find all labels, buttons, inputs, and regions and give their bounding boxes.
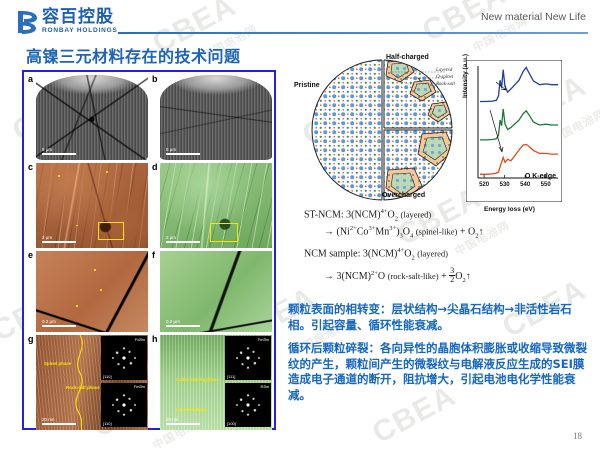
scale-label: 5 μm — [166, 147, 176, 152]
page-number: 18 — [573, 431, 582, 441]
sem-image-b — [160, 75, 272, 160]
figure-panel-e: e 0.2 μm — [26, 250, 148, 332]
panel-label-g: g — [28, 334, 34, 344]
scale-label: 0.2 μm — [42, 319, 56, 324]
panel-label-d: d — [152, 162, 158, 172]
spectrum-svg: 520530540550 — [466, 60, 562, 202]
marker-dot — [76, 305, 78, 307]
equation-4: → 3(NCM)2+O (rock-salt-like) + 32O2↑ — [304, 267, 594, 284]
scale-bar — [42, 325, 76, 327]
equation-3: NCM sample: 3(NCM)4+O2 (layered) — [304, 247, 594, 261]
phase-label-spinel: Spinel phase — [44, 361, 71, 366]
roi-box — [210, 223, 238, 242]
ronbay-logo-icon — [16, 9, 38, 35]
scale-bar — [166, 153, 200, 155]
scale-bar — [166, 423, 200, 425]
fft-inset-bottom: R3̄m [100] — [225, 383, 271, 427]
panel-label-h: h — [152, 334, 158, 344]
scale-label: 5 μm — [42, 147, 52, 152]
marker-dot — [94, 269, 96, 271]
panel-label-f: f — [152, 250, 155, 260]
marker-dot — [100, 289, 102, 291]
equation-2: → (Ni2+Co3+Mn3+)3O4 (spinel-like) + O2↑ — [304, 225, 594, 239]
marker-dot — [76, 225, 78, 227]
header-divider — [118, 32, 588, 34]
phase-boundary-curve — [36, 335, 148, 430]
x-tick-label: 550 — [541, 182, 552, 188]
scale-label: 20 nm — [166, 417, 179, 422]
spectrum-y-axis-label: Intensity (a.u.) — [462, 54, 469, 98]
phase-label-cation-mixing: Cation mixing phase — [176, 377, 219, 382]
reaction-equations: ST-NCM: 3(NCM)4+O2 (layered) → (Ni2+Co3+… — [304, 208, 594, 287]
fft-zone-axis: [111] — [227, 374, 235, 379]
scale-bar — [166, 325, 200, 327]
panel-label-b: b — [152, 74, 158, 84]
schematic-label-pristine: Pristine — [294, 82, 320, 89]
eels-spectrum-chart: 520530540550 Intensity (a.u.) Energy los… — [466, 60, 562, 202]
scale-bar — [42, 241, 76, 243]
phase-label-layered: Layered phase — [176, 407, 207, 412]
company-logo: 容百控股 RONBAY HOLDINGS — [16, 9, 118, 35]
spectrum-annotation: O K-edge — [525, 173, 556, 180]
schematic-label-overcharged: Overcharged — [382, 192, 425, 199]
scale-label: 2 μm — [42, 235, 52, 240]
figure-panel-f: f 0.2 μm — [150, 250, 272, 332]
figure-panel-g: g Spinel phase Rock-salt phase Fd3̄m [11… — [26, 334, 148, 430]
panel-label-c: c — [28, 162, 33, 172]
page-title: 高镍三元材料存在的技术问题 — [26, 43, 241, 67]
schematic-annotation-layered: Layered — [436, 68, 452, 73]
figure-panel-h: h Cation mixing phase Layered phase Fm3̄… — [150, 334, 272, 430]
logo-chinese-name: 容百控股 — [42, 9, 118, 26]
header-tagline: New material New Life — [481, 11, 586, 23]
panel-label-a: a — [28, 74, 33, 84]
fft-space-group: Fm3̄m — [258, 337, 269, 342]
fft-inset-top: Fm3̄m [111] — [225, 336, 271, 380]
figure-panel-b: b 5 μm — [150, 74, 272, 160]
conclusion-text-block: 颗粒表面的相转变：层状结构→尖晶石结构→非活性岩石相。引起容量、循环性能衰减。 … — [288, 302, 594, 411]
schematic-annotation-o-spinel: O-spinel — [436, 75, 453, 80]
roi-box — [98, 222, 124, 240]
x-tick-label: 520 — [479, 182, 490, 188]
panel-label-e: e — [28, 250, 33, 260]
x-tick-label: 540 — [520, 182, 531, 188]
phase-label-rocksalt: Rock-salt phase — [66, 385, 100, 390]
scale-bar — [166, 241, 200, 243]
scale-label: 2 μm — [166, 235, 176, 240]
logo-english-name: RONBAY HOLDINGS — [42, 28, 118, 35]
microscopy-figure-panel: a 5 μm b 5 μm c — [22, 70, 276, 430]
conclusion-paragraph-1: 颗粒表面的相转变：层状结构→尖晶石结构→非活性岩石相。引起容量、循环性能衰减。 — [288, 302, 594, 333]
phase-transition-schematic: Pristine Half-charged Overcharged Layere… — [296, 58, 468, 203]
marker-dot — [106, 171, 108, 173]
x-tick-label: 530 — [500, 182, 511, 188]
ebsd-image-c — [36, 163, 148, 248]
sem-image-a — [36, 75, 148, 160]
figure-panel-d: d 2 μm — [150, 162, 272, 248]
scale-bar — [42, 153, 76, 155]
figure-panel-c: c 2 μm — [26, 162, 148, 248]
fft-space-group: R3̄m — [261, 384, 269, 389]
schematic-label-half-charged: Half-charged — [386, 54, 429, 61]
slide-header: 容百控股 RONBAY HOLDINGS New material New Li… — [0, 0, 600, 42]
conclusion-paragraph-2: 循环后颗粒碎裂：各向异性的晶胞体积膨胀或收缩导致微裂纹的产生，颗粒间产生的微裂纹… — [288, 341, 594, 403]
figure-panel-a: a 5 μm — [26, 74, 148, 160]
fft-zone-axis: [100] — [227, 421, 236, 426]
equation-1: ST-NCM: 3(NCM)4+O2 (layered) — [304, 208, 594, 222]
marker-dot — [58, 175, 60, 177]
scale-label: 0.2 μm — [166, 319, 180, 324]
schematic-annotation-rock-salt: Rock-salt — [436, 82, 455, 87]
